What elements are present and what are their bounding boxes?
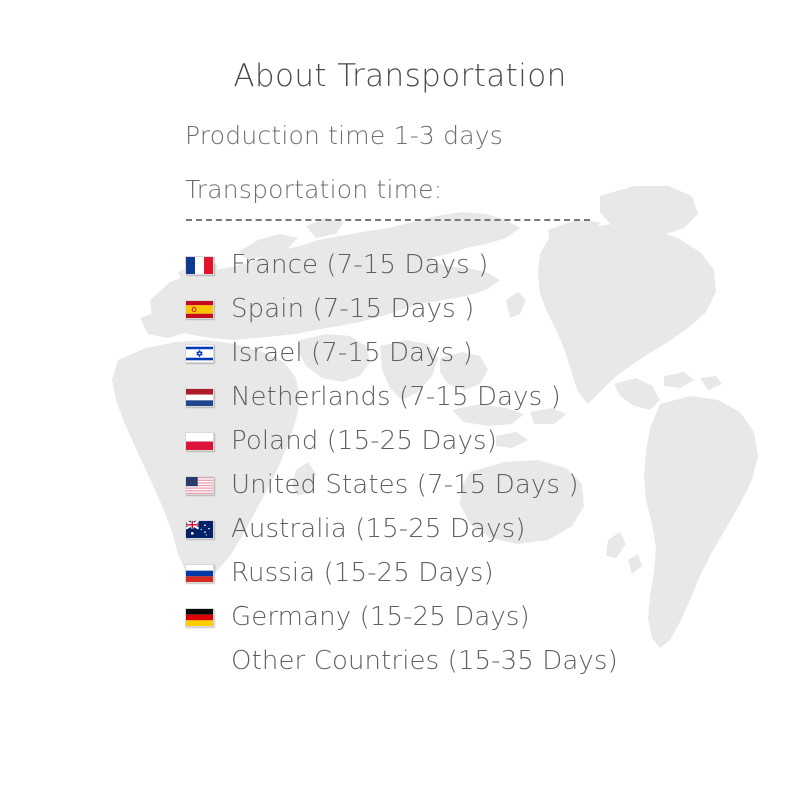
list-item-label: United States (7-15 Days ) (231, 472, 579, 498)
flag-slot (185, 520, 231, 539)
list-item-label: Israel (7-15 Days ) (231, 340, 473, 366)
page-title: About Transportation (0, 58, 800, 94)
list-item: Spain (7-15 Days ) (185, 287, 745, 331)
content-layer: About Transportation Production time 1-3… (0, 0, 800, 800)
list-item-label: Australia (15-25 Days) (231, 516, 525, 542)
flag-spain-icon (185, 300, 214, 319)
flag-slot (185, 300, 231, 319)
production-time-text: Production time 1-3 days (185, 121, 503, 150)
list-item-label: Other Countries (15-35 Days) (231, 648, 618, 674)
flag-russia-icon (185, 564, 214, 583)
list-item: Australia (15-25 Days) (185, 507, 745, 551)
list-item: Russia (15-25 Days) (185, 551, 745, 595)
list-item-label: Spain (7-15 Days ) (231, 296, 474, 322)
transportation-info-panel: About Transportation Production time 1-3… (0, 0, 800, 800)
flag-slot (185, 344, 231, 363)
flag-slot (185, 388, 231, 407)
list-item-label: Russia (15-25 Days) (231, 560, 494, 586)
list-item: Israel (7-15 Days ) (185, 331, 745, 375)
list-item: Netherlands (7-15 Days ) (185, 375, 745, 419)
flag-france-icon (185, 256, 214, 275)
flag-australia-icon (185, 520, 214, 539)
flag-slot (185, 476, 231, 495)
country-shipping-list: France (7-15 Days ) Spain (7- (185, 243, 745, 683)
flag-slot (185, 564, 231, 583)
list-item-label: Netherlands (7-15 Days ) (231, 384, 561, 410)
flag-slot (185, 256, 231, 275)
flag-germany-icon (185, 608, 214, 627)
flag-poland-icon (185, 432, 214, 451)
dashed-divider (186, 219, 590, 221)
list-item: France (7-15 Days ) (185, 243, 745, 287)
flag-slot (185, 608, 231, 627)
list-item-label: France (7-15 Days ) (231, 252, 488, 278)
transportation-time-label: Transportation time: (185, 175, 442, 204)
list-item-label: Poland (15-25 Days) (231, 428, 497, 454)
flag-slot (185, 432, 231, 451)
list-item: Germany (15-25 Days) (185, 595, 745, 639)
list-item: United States (7-15 Days ) (185, 463, 745, 507)
list-item: Poland (15-25 Days) (185, 419, 745, 463)
flag-israel-icon (185, 344, 214, 363)
flag-netherlands-icon (185, 388, 214, 407)
flag-united-states-icon (185, 476, 214, 495)
list-item: Other Countries (15-35 Days) (185, 639, 745, 683)
list-item-label: Germany (15-25 Days) (231, 604, 530, 630)
